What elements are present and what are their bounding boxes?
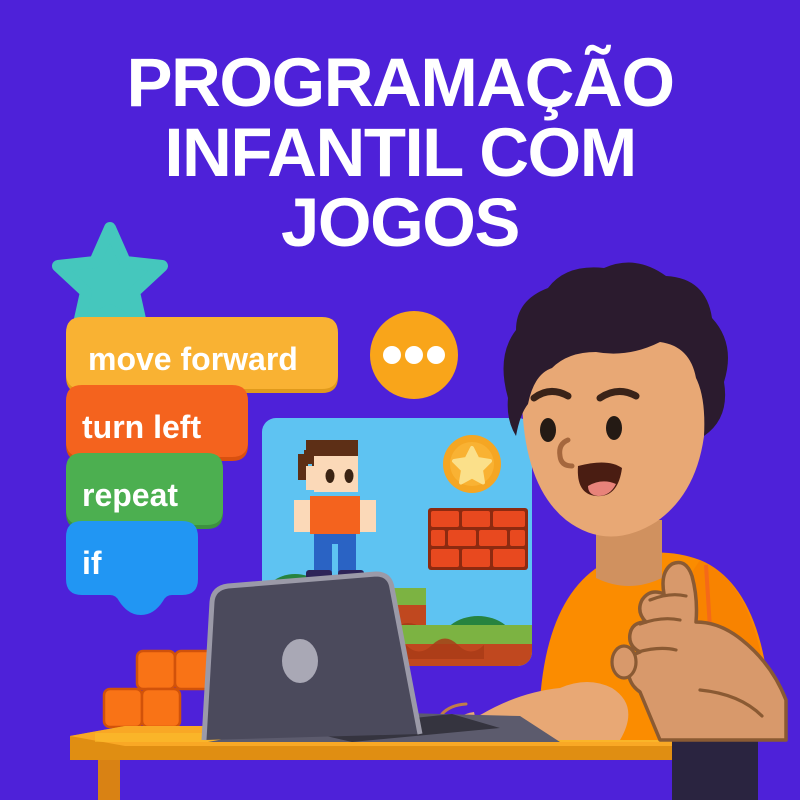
character-eye-right (345, 469, 354, 483)
boy-eye-right (606, 416, 622, 440)
block-if[interactable]: if (60, 519, 200, 605)
laptop-logo-icon (282, 639, 318, 683)
game-coin (443, 435, 501, 493)
ellipsis-badge[interactable] (370, 311, 458, 399)
brick-wall (428, 508, 528, 570)
poster-canvas: move forward turn left repeat if PROGRAM… (0, 0, 800, 800)
dot-1-icon (383, 346, 401, 364)
dot-2-icon (405, 346, 423, 364)
dot-3-icon (427, 346, 445, 364)
character-eye-left (326, 469, 335, 483)
boy-eye-left (540, 418, 556, 442)
